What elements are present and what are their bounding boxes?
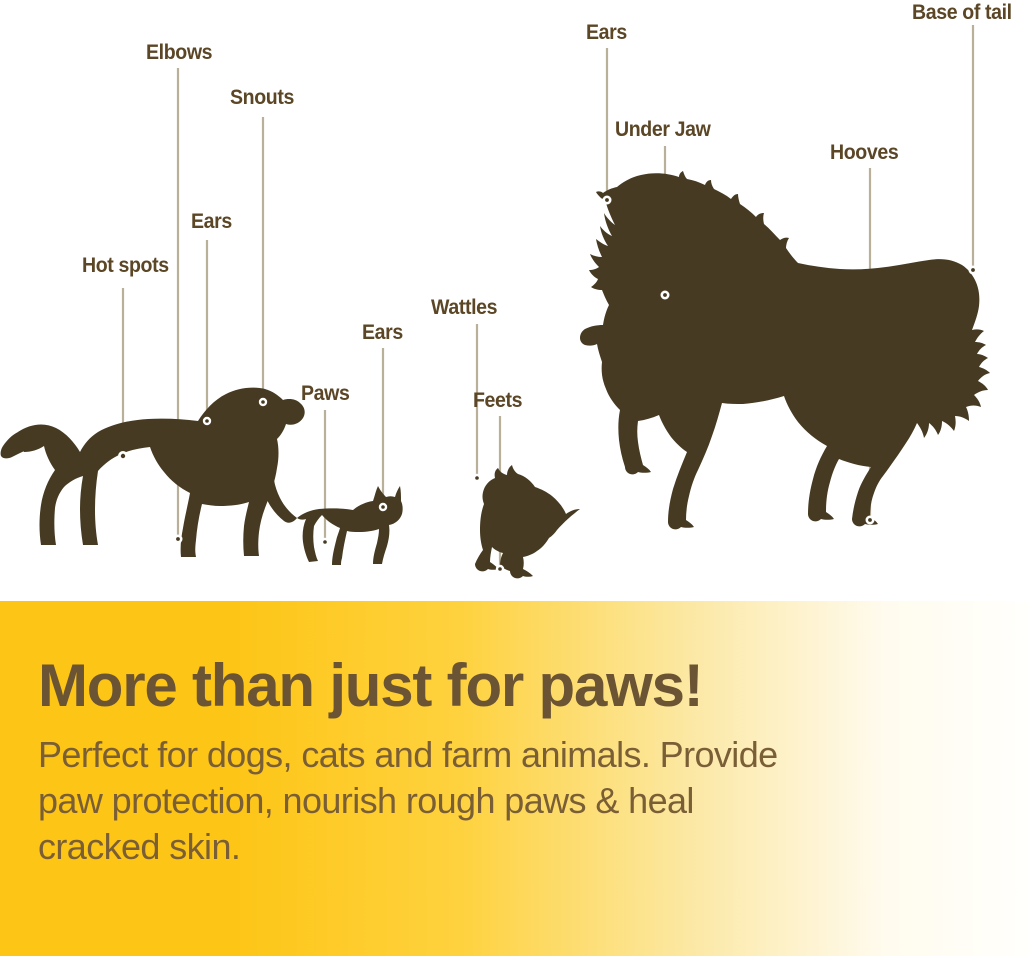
marker-cat-ears	[379, 503, 387, 511]
callout-label-feets: Feets	[473, 390, 522, 411]
callout-label-cat-ears: Ears	[362, 322, 403, 343]
callout-label-hooves: Hooves	[830, 142, 898, 163]
dog-silhouette	[1, 388, 305, 557]
marker-wattles	[473, 474, 481, 482]
marker-hot-spots	[118, 451, 128, 461]
callout-label-under-jaw: Under Jaw	[615, 119, 710, 140]
promo-description-line-1: Perfect for dogs, cats and farm animals.…	[38, 732, 978, 778]
callout-label-base-of-tail: Base of tail	[912, 2, 1012, 23]
promo-text-block: More than just for paws! Perfect for dog…	[38, 656, 988, 870]
callout-label-hot-spots: Hot spots	[82, 255, 169, 276]
product-infographic: Hot spots Elbows Ears Snouts Paws Ears W…	[0, 0, 1029, 956]
callout-label-paws: Paws	[301, 383, 349, 404]
marker-snouts	[259, 398, 267, 406]
marker-horse-ears	[603, 196, 612, 205]
marker-under-jaw	[661, 291, 670, 300]
promo-band: More than just for paws! Perfect for dog…	[0, 601, 1029, 956]
promo-headline: More than just for paws!	[38, 656, 988, 716]
callout-label-elbows: Elbows	[146, 42, 212, 63]
marker-feets	[496, 565, 504, 573]
callout-label-dog-ears: Ears	[191, 211, 232, 232]
cat-silhouette	[261, 472, 403, 565]
callout-label-wattles: Wattles	[431, 297, 497, 318]
promo-description-line-2: paw protection, nourish rough paws & hea…	[38, 778, 978, 824]
promo-description: Perfect for dogs, cats and farm animals.…	[38, 732, 978, 870]
chicken-silhouette	[475, 465, 580, 578]
callout-label-horse-ears: Ears	[586, 22, 627, 43]
horse-silhouette	[580, 171, 990, 529]
marker-paws	[321, 538, 329, 546]
callout-label-snouts: Snouts	[230, 87, 294, 108]
animal-diagram-graphic	[0, 0, 1029, 601]
marker-dog-ears	[203, 417, 211, 425]
promo-description-line-3: cracked skin.	[38, 824, 978, 870]
marker-hooves	[866, 516, 875, 525]
marker-elbows	[174, 535, 183, 544]
animal-diagram-panel: Hot spots Elbows Ears Snouts Paws Ears W…	[0, 0, 1029, 601]
marker-base-of-tail	[969, 266, 978, 275]
